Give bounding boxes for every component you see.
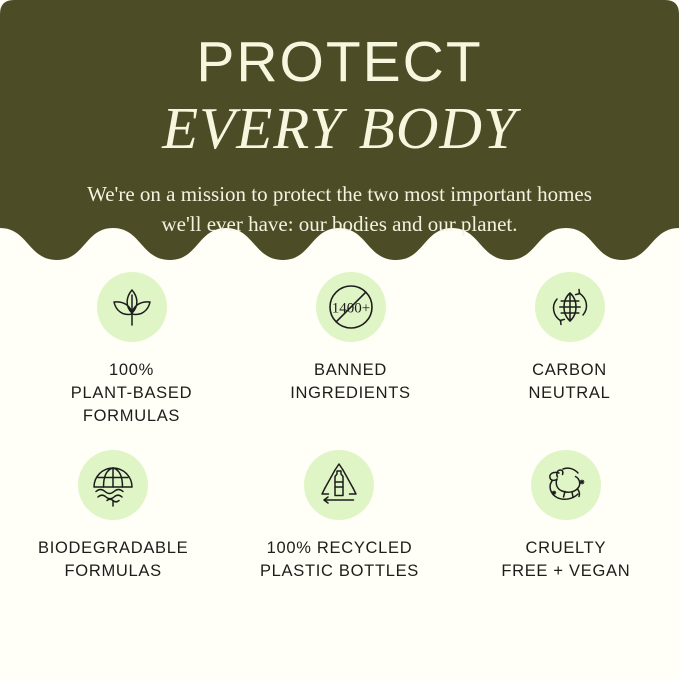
badge-label: CRUELTY FREE + VEGAN (501, 537, 630, 583)
badge-row-1: 100% PLANT-BASED FORMULAS 1400+ BANNED I… (0, 272, 679, 428)
badge-recycled-bottles: 100% RECYCLED PLASTIC BOTTLES (226, 450, 452, 583)
badge-icon-circle (304, 450, 374, 520)
biodegradable-globe-water-icon (86, 458, 140, 512)
badge-grid: 100% PLANT-BASED FORMULAS 1400+ BANNED I… (0, 272, 679, 583)
cruelty-free-rabbit-icon (539, 458, 593, 512)
badge-plant-based: 100% PLANT-BASED FORMULAS (22, 272, 241, 428)
badge-carbon-neutral: CARBON NEUTRAL (460, 272, 679, 428)
hero-banner: PROTECT EVERY BODY We're on a mission to… (0, 0, 679, 262)
badge-label: 100% RECYCLED PLASTIC BOTTLES (260, 537, 419, 583)
badge-icon-circle (535, 272, 605, 342)
badge-biodegradable: BIODEGRADABLE FORMULAS (0, 450, 226, 583)
badge-label: BIODEGRADABLE FORMULAS (38, 537, 188, 583)
badge-icon-circle (531, 450, 601, 520)
carbon-neutral-globe-icon (543, 280, 597, 334)
badge-banned-ingredients: 1400+ BANNED INGREDIENTS (241, 272, 460, 428)
banned-count-text: 1400+ (331, 301, 369, 317)
hero-title-line-2: EVERY BODY (0, 91, 679, 158)
badge-icon-circle (97, 272, 167, 342)
hero-title-line-1: PROTECT (0, 0, 679, 91)
badge-icon-circle: 1400+ (316, 272, 386, 342)
plant-leaves-icon (106, 281, 158, 333)
badge-label: CARBON NEUTRAL (529, 359, 611, 405)
badge-icon-circle (78, 450, 148, 520)
hero-subtitle: We're on a mission to protect the two mo… (75, 158, 605, 239)
promo-graphic: PROTECT EVERY BODY We're on a mission to… (0, 0, 679, 679)
banned-ingredients-icon: 1400+ (324, 280, 378, 334)
badge-cruelty-free: CRUELTY FREE + VEGAN (453, 450, 679, 583)
recycled-bottle-icon (312, 458, 366, 512)
badge-row-2: BIODEGRADABLE FORMULAS (0, 428, 679, 583)
badge-label: 100% PLANT-BASED FORMULAS (71, 359, 192, 428)
hero-text-block: PROTECT EVERY BODY We're on a mission to… (0, 0, 679, 240)
badge-label: BANNED INGREDIENTS (290, 359, 410, 405)
